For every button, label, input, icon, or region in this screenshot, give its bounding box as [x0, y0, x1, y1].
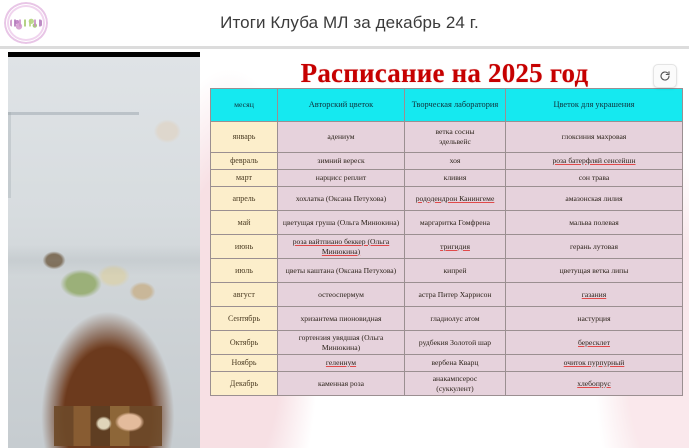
cell-author-flower: цветущая груша (Ольга Минюкина): [278, 211, 405, 235]
cell-author-flower: геленнум: [278, 355, 405, 372]
cell-author-flower: гортензия увядшая (Ольга Минюкина): [278, 331, 405, 355]
club-logo-icon: [4, 2, 48, 44]
cell-lab: астра Питер Харрисон: [405, 283, 506, 307]
column-header-decor-flower: Цветок для украшения: [506, 89, 683, 122]
table-row: Ноябрьгеленнумвербена Кварцочиток пурпур…: [211, 355, 683, 372]
cell-month: Декабрь: [211, 372, 278, 396]
cell-month: июнь: [211, 235, 278, 259]
table-row: августостеоспермумастра Питер Харрисонга…: [211, 283, 683, 307]
cell-decor-flower: мальва полевая: [506, 211, 683, 235]
participant-video-tile[interactable]: [8, 52, 200, 448]
cell-month: июль: [211, 259, 278, 283]
cell-decor-flower: цветущая ветка липы: [506, 259, 683, 283]
cell-month: Октябрь: [211, 331, 278, 355]
schedule-title: Расписание на 2025 год: [200, 58, 689, 88]
cell-author-flower: каменная роза: [278, 372, 405, 396]
table-row: Сентябрьхризантема пионовиднаягладиолус …: [211, 307, 683, 331]
cell-lab: рудбекия Золотой шар: [405, 331, 506, 355]
cell-author-flower: хризантема пионовидная: [278, 307, 405, 331]
cell-lab: маргаритка Гомфрена: [405, 211, 506, 235]
cell-author-flower: зимний вереск: [278, 153, 405, 170]
table-row: Октябрьгортензия увядшая (Ольга Минюкина…: [211, 331, 683, 355]
cell-lab: кливия: [405, 170, 506, 187]
header-divider: [0, 46, 689, 49]
cell-month: Сентябрь: [211, 307, 278, 331]
cell-lab: тригидия: [405, 235, 506, 259]
cell-author-flower: остеоспермум: [278, 283, 405, 307]
cell-month: август: [211, 283, 278, 307]
cell-decor-flower: сон трава: [506, 170, 683, 187]
video-foreground: [54, 406, 162, 446]
cell-lab: вербена Кварц: [405, 355, 506, 372]
cell-month: март: [211, 170, 278, 187]
table-row: майцветущая груша (Ольга Минюкина)маргар…: [211, 211, 683, 235]
cell-lab: кипрей: [405, 259, 506, 283]
table-row: апрельхохлатка (Оксана Петухова)рододенд…: [211, 187, 683, 211]
cell-author-flower: нарцисс реплит: [278, 170, 405, 187]
table-row: январьадениумветка сосныэдельвейсглоксин…: [211, 122, 683, 153]
video-stream: [8, 57, 200, 448]
column-header-lab: Творческая лаборатория: [405, 89, 506, 122]
table-body: январьадениумветка сосныэдельвейсглоксин…: [211, 122, 683, 396]
cell-decor-flower: очиток пурпурный: [506, 355, 683, 372]
cell-month: февраль: [211, 153, 278, 170]
cell-decor-flower: глоксиния махровая: [506, 122, 683, 153]
cell-month: апрель: [211, 187, 278, 211]
cell-lab: анакампсерос(суккулент): [405, 372, 506, 396]
column-header-author-flower: Авторский цветок: [278, 89, 405, 122]
cell-decor-flower: роза батерфляй сенсейшн: [506, 153, 683, 170]
cell-lab: гладиолус атом: [405, 307, 506, 331]
cell-author-flower: хохлатка (Оксана Петухова): [278, 187, 405, 211]
schedule-table: месяц Авторский цветок Творческая лабора…: [210, 88, 683, 396]
table-header-row: месяц Авторский цветок Творческая лабора…: [211, 89, 683, 122]
cell-decor-flower: амазонская лилия: [506, 187, 683, 211]
column-header-month: месяц: [211, 89, 278, 122]
cell-decor-flower: герань лутовая: [506, 235, 683, 259]
table-row: июньроза вайтпиано беккер (Ольга Минюкин…: [211, 235, 683, 259]
cell-author-flower: роза вайтпиано беккер (Ольга Минюкина): [278, 235, 405, 259]
cell-lab: ветка сосныэдельвейс: [405, 122, 506, 153]
table-header: месяц Авторский цветок Творческая лабора…: [211, 89, 683, 122]
cell-decor-flower: газания: [506, 283, 683, 307]
meeting-header: Итоги Клуба МЛ за декабрь 24 г.: [0, 0, 689, 46]
cell-decor-flower: хлебопрус: [506, 372, 683, 396]
cell-author-flower: адениум: [278, 122, 405, 153]
cell-month: январь: [211, 122, 278, 153]
cell-lab: рододендрон Канингеме: [405, 187, 506, 211]
cell-decor-flower: бересклет: [506, 331, 683, 355]
table-row: Декабрькаменная розаанакампсерос(суккуле…: [211, 372, 683, 396]
refresh-icon[interactable]: [653, 64, 677, 88]
cell-decor-flower: настурция: [506, 307, 683, 331]
meeting-title: Итоги Клуба МЛ за декабрь 24 г.: [0, 13, 689, 33]
cell-author-flower: цветы каштана (Оксана Петухова): [278, 259, 405, 283]
cell-month: Ноябрь: [211, 355, 278, 372]
cell-lab: хоя: [405, 153, 506, 170]
table-row: февральзимний верескхояроза батерфляй се…: [211, 153, 683, 170]
cell-month: май: [211, 211, 278, 235]
table-row: июльцветы каштана (Оксана Петухова)кипре…: [211, 259, 683, 283]
shared-screen-region[interactable]: Расписание на 2025 год месяц Авторский ц…: [200, 52, 689, 448]
meeting-screen: Итоги Клуба МЛ за декабрь 24 г. Расписан…: [0, 0, 689, 448]
table-row: мартнарцисс реплиткливиясон трава: [211, 170, 683, 187]
